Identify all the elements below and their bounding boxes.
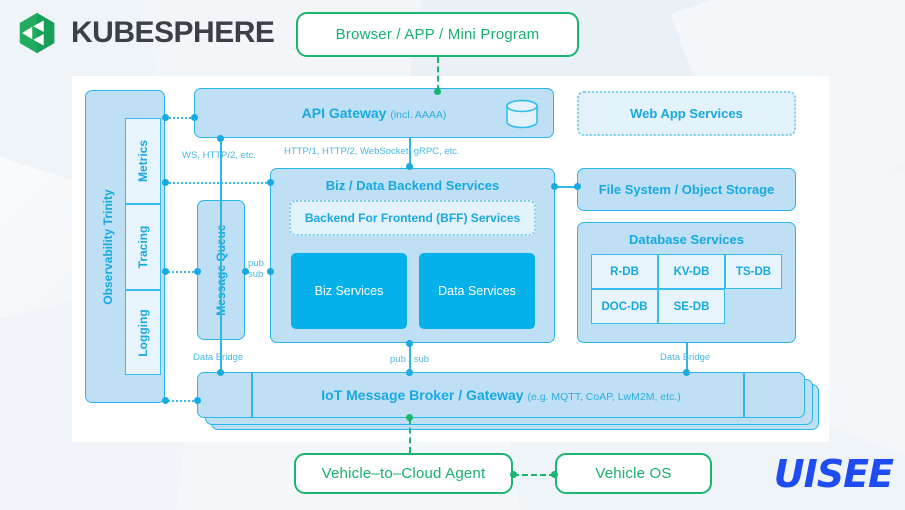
- database-cell-docdb[interactable]: DOC-DB: [591, 289, 658, 324]
- connector-dot-gw-down-left: [217, 135, 224, 142]
- connector-dot-mq-left: [194, 268, 201, 275]
- label-data-bridge-left: Data Bridge: [193, 352, 243, 363]
- observability-item-logging[interactable]: Logging: [125, 290, 161, 375]
- biz-services-box[interactable]: Biz Services: [291, 253, 407, 329]
- brand-logo: KUBESPHERE: [14, 10, 274, 56]
- vehicle-agent-box[interactable]: Vehicle–to–Cloud Agent: [294, 453, 513, 494]
- bff-services-box[interactable]: Backend For Frontend (BFF) Services: [289, 200, 536, 236]
- observability-item-label: Metrics: [136, 140, 150, 182]
- web-app-services-label: Web App Services: [630, 106, 743, 121]
- database-cell-kvdb[interactable]: KV-DB: [658, 254, 725, 289]
- backend-services-title: Biz / Data Backend Services: [271, 178, 554, 193]
- iot-broker-note: (e.g. MQTT, CoAP, LwM2M, etc.): [527, 391, 680, 403]
- database-cell-label: SE-DB: [674, 301, 710, 313]
- database-services-title: Database Services: [578, 232, 795, 247]
- bff-services-label: Backend For Frontend (BFF) Services: [305, 211, 520, 225]
- connector-dot-obs-1: [162, 114, 169, 121]
- file-system-block[interactable]: File System / Object Storage: [577, 168, 796, 211]
- connector-dot-iot-bottom: [406, 414, 413, 421]
- connector-gateway-down-left: [220, 138, 222, 368]
- connector-dot-backend-left-top: [267, 179, 274, 186]
- connector-dot-obs-3: [162, 268, 169, 275]
- connector-client-to-gateway: [437, 57, 439, 91]
- label-data-bridge-right: Data Bridge: [660, 352, 710, 363]
- connector-dot-iot-right: [683, 369, 690, 376]
- connector-dot-iot-center: [406, 369, 413, 376]
- connector-dot-obs-2: [162, 179, 169, 186]
- connector-dot-os-left: [551, 471, 558, 478]
- observability-title: Observability Trinity: [101, 189, 115, 304]
- api-gateway-block[interactable]: API Gateway (incl. AAAA): [194, 88, 554, 138]
- label-sub: sub: [248, 269, 263, 280]
- database-cell-label: DOC-DB: [602, 301, 648, 313]
- label-http-protocols: HTTP/1, HTTP/2, WebSocket, gRPC, etc.: [284, 146, 460, 157]
- database-cell-label: R-DB: [610, 266, 639, 278]
- observability-item-tracing[interactable]: Tracing: [125, 204, 161, 290]
- label-pub: pub: [248, 258, 264, 269]
- client-entry-label: Browser / APP / Mini Program: [336, 26, 540, 43]
- database-cell-label: TS-DB: [736, 266, 771, 278]
- label-pub-sub-center: pub / sub: [390, 354, 429, 365]
- iot-broker-title: IoT Message Broker / Gateway: [321, 387, 523, 403]
- connector-dot-gateway-top: [434, 88, 441, 95]
- data-services-label: Data Services: [438, 284, 516, 298]
- connector-obs-to-mq: [165, 271, 197, 273]
- brand-name: KUBESPHERE: [71, 16, 274, 50]
- observability-item-label: Tracing: [136, 226, 150, 269]
- connector-obs-to-backend: [165, 182, 271, 184]
- observability-item-label: Logging: [136, 309, 150, 356]
- kubesphere-hexagon-icon: [14, 10, 60, 56]
- database-cylinder-icon: [505, 98, 539, 135]
- connector-dot-backend-left-mid: [267, 268, 274, 275]
- vehicle-agent-label: Vehicle–to–Cloud Agent: [322, 465, 486, 482]
- connector-agent-to-os: [513, 474, 555, 476]
- api-gateway-title: API Gateway: [302, 105, 387, 121]
- connector-dot-iot-left: [194, 397, 201, 404]
- connector-dot-gw-down-center: [406, 163, 413, 170]
- database-cell-tsdb[interactable]: TS-DB: [725, 254, 782, 289]
- partner-logo-uisee: UISEE: [774, 452, 893, 496]
- data-services-box[interactable]: Data Services: [419, 253, 535, 329]
- connector-dot-mq-right: [242, 268, 249, 275]
- connector-dot-backend-bottom: [406, 340, 413, 347]
- connector-dot-backend-right: [551, 183, 558, 190]
- database-cell-rdb[interactable]: R-DB: [591, 254, 658, 289]
- api-gateway-note: (incl. AAAA): [390, 109, 446, 121]
- connector-dot-gateway-left: [191, 114, 198, 121]
- label-ws-http2: WS, HTTP/2, etc.: [182, 150, 256, 161]
- vehicle-os-label: Vehicle OS: [595, 465, 671, 482]
- connector-dot-obs-4: [162, 397, 169, 404]
- web-app-services-box[interactable]: Web App Services: [577, 91, 796, 136]
- iot-divider-left: [251, 373, 253, 417]
- connector-iot-to-vehicle: [409, 418, 411, 453]
- connector-dot-agent-right: [510, 471, 517, 478]
- iot-divider-right: [743, 373, 745, 417]
- connector-obs-to-iot: [165, 400, 197, 402]
- biz-services-label: Biz Services: [315, 284, 384, 298]
- client-entry-box[interactable]: Browser / APP / Mini Program: [296, 12, 579, 57]
- iot-message-broker-block[interactable]: IoT Message Broker / Gateway (e.g. MQTT,…: [197, 372, 805, 418]
- connector-dot-mq-bottom: [217, 369, 224, 376]
- database-cell-label: KV-DB: [674, 266, 710, 278]
- observability-item-metrics[interactable]: Metrics: [125, 118, 161, 204]
- database-cell-sedb[interactable]: SE-DB: [658, 289, 725, 324]
- connector-dot-filesystem-left: [574, 183, 581, 190]
- file-system-label: File System / Object Storage: [599, 182, 775, 197]
- vehicle-os-box[interactable]: Vehicle OS: [555, 453, 712, 494]
